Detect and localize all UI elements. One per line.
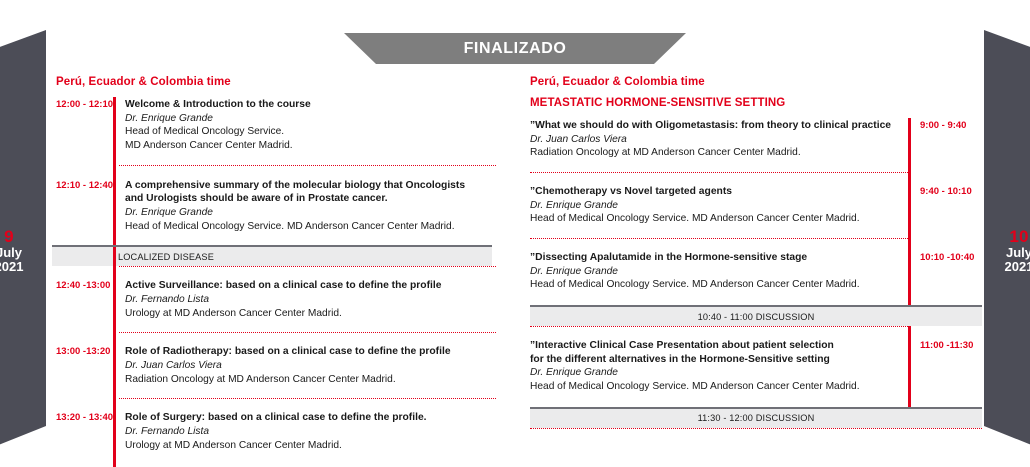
- session-time: 13:20 - 13:40: [56, 410, 107, 452]
- session-row[interactable]: 12:10 - 12:40 A comprehensive summary of…: [56, 166, 496, 246]
- timezone-label: Perú, Ecuador & Colombia time: [56, 76, 496, 88]
- section-title-metastatic: METASTATIC HORMONE-SENSITIVE SETTING: [530, 97, 982, 109]
- session-speaker: Dr. Enrique Grande: [530, 265, 898, 279]
- session-row[interactable]: ”Chemotherapy vs Novel targeted agents D…: [530, 173, 982, 238]
- session-time: 12:00 - 12:10: [56, 97, 107, 153]
- session-time: 9:00 - 9:40: [908, 118, 982, 160]
- session-affiliation: Urology at MD Anderson Cancer Center Mad…: [125, 307, 441, 321]
- session-title: and Urologists should be aware of in Pro…: [125, 192, 465, 206]
- session-title: Role of Radiotherapy: based on a clinica…: [125, 345, 451, 359]
- day-month: July: [994, 246, 1030, 260]
- session-title: ”Chemotherapy vs Novel targeted agents: [530, 185, 898, 199]
- session-body: ”What we should do with Oligometastasis:…: [530, 118, 898, 160]
- day-year: 2021: [0, 260, 32, 274]
- session-row[interactable]: 13:20 - 13:40 Role of Surgery: based on …: [56, 399, 496, 466]
- session-body: Role of Radiotherapy: based on a clinica…: [113, 344, 451, 386]
- session-row[interactable]: ”What we should do with Oligometastasis:…: [530, 118, 982, 172]
- status-banner: FINALIZADO: [344, 33, 686, 64]
- session-speaker: Dr. Fernando Lista: [125, 425, 427, 439]
- session-speaker: Dr. Fernando Lista: [125, 293, 441, 307]
- session-speaker: Dr. Enrique Grande: [125, 206, 465, 220]
- session-speaker: Dr. Enrique Grande: [530, 199, 898, 213]
- session-time: 11:00 -11:30: [908, 338, 982, 394]
- session-speaker: Dr. Enrique Grande: [530, 366, 898, 380]
- section-band-localized-disease: LOCALIZED DISEASE: [52, 245, 492, 266]
- session-body: Active Surveillance: based on a clinical…: [113, 278, 441, 320]
- session-affiliation: Radiation Oncology at MD Anderson Cancer…: [530, 146, 898, 160]
- session-row[interactable]: ”Interactive Clinical Case Presentation …: [530, 327, 982, 407]
- session-row[interactable]: 13:00 -13:20 Role of Radiotherapy: based…: [56, 333, 496, 398]
- day-month: July: [0, 246, 32, 260]
- session-title: ”Interactive Clinical Case Presentation …: [530, 339, 898, 353]
- agenda-column-day-10: Perú, Ecuador & Colombia time METASTATIC…: [530, 76, 982, 429]
- session-title: Active Surveillance: based on a clinical…: [125, 279, 441, 293]
- session-affiliation: MD Anderson Cancer Center Madrid.: [125, 139, 311, 153]
- session-time: 12:40 -13:00: [56, 278, 107, 320]
- discussion-band: 10:40 - 11:00 DISCUSSION: [530, 305, 982, 326]
- day-number: 9: [0, 228, 32, 246]
- session-affiliation: Head of Medical Oncology Service. MD And…: [530, 380, 898, 394]
- session-title: for the different alternatives in the Ho…: [530, 353, 898, 367]
- timeline-rail-segment: [113, 247, 116, 266]
- session-body: ”Chemotherapy vs Novel targeted agents D…: [530, 184, 898, 226]
- status-banner-label: FINALIZADO: [464, 40, 567, 58]
- session-row[interactable]: 12:00 - 12:10 Welcome & Introduction to …: [56, 97, 496, 165]
- session-row[interactable]: 12:40 -13:00 Active Surveillance: based …: [56, 267, 496, 332]
- session-title: ”Dissecting Apalutamide in the Hormone-s…: [530, 251, 898, 265]
- session-body: A comprehensive summary of the molecular…: [113, 178, 465, 234]
- day-year: 2021: [994, 260, 1030, 274]
- session-affiliation: Head of Medical Oncology Service. MD And…: [125, 220, 465, 234]
- timezone-label: Perú, Ecuador & Colombia time: [530, 76, 982, 88]
- session-title: A comprehensive summary of the molecular…: [125, 179, 465, 193]
- session-affiliation: Head of Medical Oncology Service. MD And…: [530, 278, 898, 292]
- session-time: 9:40 - 10:10: [908, 184, 982, 226]
- row-divider: [530, 428, 982, 429]
- session-affiliation: Urology at MD Anderson Cancer Center Mad…: [125, 439, 427, 453]
- agenda-column-day-9: Perú, Ecuador & Colombia time 12:00 - 12…: [56, 76, 496, 467]
- session-body: ”Dissecting Apalutamide in the Hormone-s…: [530, 250, 898, 292]
- session-title: ”What we should do with Oligometastasis:…: [530, 119, 898, 133]
- session-title: Welcome & Introduction to the course: [125, 98, 311, 112]
- session-affiliation: Head of Medical Oncology Service. MD And…: [530, 212, 898, 226]
- agenda-canvas: 9 July 2021 10 July 2021 FINALIZADO Perú…: [0, 0, 1030, 450]
- session-speaker: Dr. Enrique Grande: [125, 112, 311, 126]
- session-body: ”Interactive Clinical Case Presentation …: [530, 338, 898, 394]
- session-title: Role of Surgery: based on a clinical cas…: [125, 411, 427, 425]
- discussion-band-label: 11:30 - 12:00 DISCUSSION: [698, 413, 815, 423]
- session-speaker: Dr. Juan Carlos Viera: [530, 133, 898, 147]
- day-number: 10: [994, 228, 1030, 246]
- session-affiliation: Radiation Oncology at MD Anderson Cancer…: [125, 373, 451, 387]
- day-tab-right[interactable]: 10 July 2021: [984, 30, 1030, 450]
- session-time: 12:10 - 12:40: [56, 178, 107, 234]
- session-body: Welcome & Introduction to the course Dr.…: [113, 97, 311, 153]
- day-tab-right-content: 10 July 2021: [984, 228, 1030, 274]
- session-time: 13:00 -13:20: [56, 344, 107, 386]
- session-time: 10:10 -10:40: [908, 250, 982, 292]
- day-tab-left-content: 9 July 2021: [0, 228, 46, 274]
- discussion-band: 11:30 - 12:00 DISCUSSION: [530, 407, 982, 428]
- day-tab-left[interactable]: 9 July 2021: [0, 30, 46, 450]
- session-speaker: Dr. Juan Carlos Viera: [125, 359, 451, 373]
- discussion-band-label: 10:40 - 11:00 DISCUSSION: [698, 312, 815, 322]
- session-row[interactable]: ”Dissecting Apalutamide in the Hormone-s…: [530, 239, 982, 305]
- session-affiliation: Head of Medical Oncology Service.: [125, 125, 311, 139]
- session-body: Role of Surgery: based on a clinical cas…: [113, 410, 427, 452]
- section-band-label: LOCALIZED DISEASE: [52, 252, 214, 262]
